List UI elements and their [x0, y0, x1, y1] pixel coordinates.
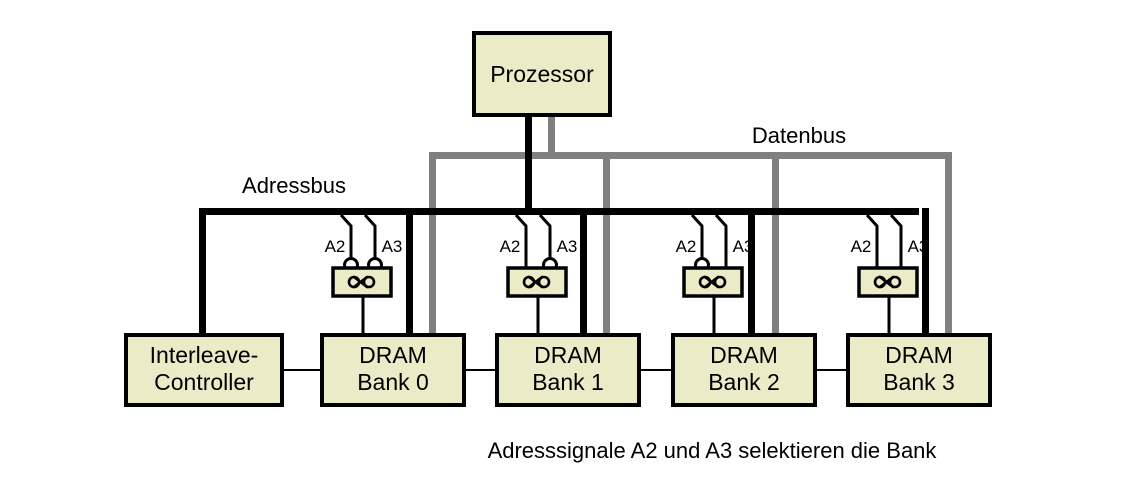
interleave-controller-label-line1: Interleave-: [150, 342, 259, 368]
signal-label-a3-bank2: A3: [733, 237, 754, 256]
diagram-canvas: A2 A3 A2 A3 A2 A3 A2 A3: [0, 0, 1146, 500]
tap-lines-bank0: [341, 215, 375, 265]
decoder-bank3: [859, 268, 917, 337]
dram-bank-node-2[interactable]: DRAM Bank 2: [673, 335, 815, 405]
tap-line-a3-bank2: [716, 215, 726, 272]
signal-labels: A2 A3 A2 A3 A2 A3 A2 A3: [325, 237, 929, 256]
diagram-caption: Adresssignale A2 und A3 selektieren die …: [488, 438, 938, 463]
processor-node[interactable]: Prozessor: [474, 33, 610, 115]
signal-label-a2-bank2: A2: [676, 237, 697, 256]
dram-bank-label-line1-1: DRAM: [534, 342, 602, 368]
signal-label-a2-bank0: A2: [325, 237, 346, 256]
data-bus-group: [429, 115, 952, 337]
data-bus-label: Datenbus: [752, 123, 846, 148]
dram-bank-node-3[interactable]: DRAM Bank 3: [848, 335, 990, 405]
decoder-bank1: [508, 268, 566, 337]
dram-bank-label-line1-2: DRAM: [710, 342, 778, 368]
dram-bank-node-1[interactable]: DRAM Bank 1: [497, 335, 639, 405]
tap-lines-bank3: [867, 215, 901, 272]
dram-bank-label-line1-0: DRAM: [359, 342, 427, 368]
interleaving-diagram: A2 A3 A2 A3 A2 A3 A2 A3: [0, 0, 1146, 500]
dram-bank-label-line1-3: DRAM: [885, 342, 953, 368]
dram-bank-label-line2-3: Bank 3: [883, 369, 955, 395]
decoder-bank2: [684, 268, 742, 337]
signal-label-a3-bank1: A3: [557, 237, 578, 256]
dram-bank-label-line2-0: Bank 0: [357, 369, 429, 395]
signal-label-a3-bank0: A3: [382, 237, 403, 256]
address-bus-label: Adressbus: [242, 173, 346, 198]
decoder-bank0: [333, 268, 391, 337]
decoder-boxes: [333, 268, 917, 337]
dram-bank-label-line2-1: Bank 1: [532, 369, 604, 395]
signal-label-a2-bank3: A2: [851, 237, 872, 256]
dram-bank-label-line2-2: Bank 2: [708, 369, 780, 395]
interleave-controller-label-line2: Controller: [154, 369, 254, 395]
interleave-controller-node[interactable]: Interleave- Controller: [126, 335, 282, 405]
processor-label: Prozessor: [490, 61, 594, 87]
address-bus-group: [199, 115, 926, 337]
tap-line-a3-bank3: [891, 215, 901, 272]
signal-label-a3-bank3: A3: [908, 237, 929, 256]
signal-label-a2-bank1: A2: [500, 237, 521, 256]
dram-bank-node-0[interactable]: DRAM Bank 0: [322, 335, 464, 405]
